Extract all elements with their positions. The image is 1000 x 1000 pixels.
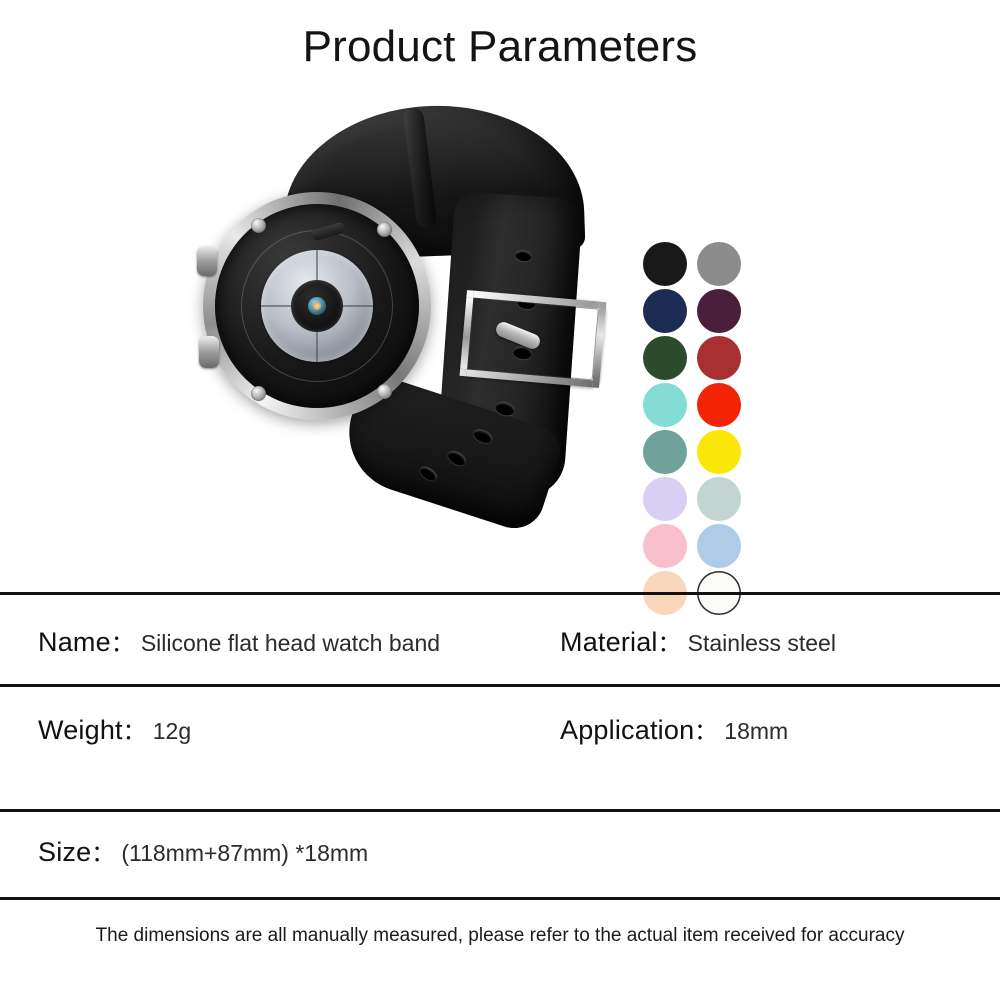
color-swatch-light-blue[interactable] (697, 524, 741, 568)
product-parameters-page: Product Parameters (0, 0, 1000, 1000)
spec-field-size: Size ： (118mm+87mm) *18mm (38, 834, 368, 868)
spec-colon: ： (123, 712, 146, 746)
color-swatch-grid (638, 240, 746, 616)
spec-divider-top (0, 592, 1000, 595)
spec-colon: ： (91, 834, 114, 868)
sensor-led-dot (313, 302, 321, 310)
color-swatch-pale-sage[interactable] (697, 477, 741, 521)
spec-value-material: Stainless steel (688, 630, 836, 657)
case-screw (377, 222, 392, 237)
color-swatch-dark-purple[interactable] (697, 289, 741, 333)
color-swatch-lavender[interactable] (643, 477, 687, 521)
spec-field-name: Name ： Silicone flat head watch band (38, 624, 440, 658)
spec-value-size: (118mm+87mm) *18mm (121, 840, 368, 867)
spec-value-application: 18mm (724, 718, 788, 745)
color-swatch-black[interactable] (643, 242, 687, 286)
spec-divider-third (0, 809, 1000, 812)
product-image-watch-band (195, 100, 625, 540)
color-swatch-gray[interactable] (697, 242, 741, 286)
spec-field-application: Application ： 18mm (560, 712, 788, 746)
spec-colon: ： (658, 624, 681, 658)
spec-colon: ： (694, 712, 717, 746)
watch-side-button-lower (199, 336, 219, 368)
spec-label-size: Size (38, 837, 91, 868)
spec-label-material: Material (560, 627, 658, 658)
color-swatch-navy-blue[interactable] (643, 289, 687, 333)
color-swatch-yellow[interactable] (697, 430, 741, 474)
color-swatch-pink[interactable] (643, 524, 687, 568)
color-swatch-teal-green[interactable] (643, 430, 687, 474)
spec-colon: ： (111, 624, 134, 658)
spec-divider-bottom (0, 897, 1000, 900)
color-swatch-turquoise[interactable] (643, 383, 687, 427)
page-title: Product Parameters (0, 22, 1000, 72)
spec-label-weight: Weight (38, 715, 123, 746)
color-swatch-dark-red[interactable] (697, 336, 741, 380)
color-swatch-dark-green[interactable] (643, 336, 687, 380)
case-screw (377, 384, 392, 399)
spec-field-material: Material ： Stainless steel (560, 624, 836, 658)
color-swatch-bright-red[interactable] (697, 383, 741, 427)
case-screw (251, 218, 266, 233)
spec-field-weight: Weight ： 12g (38, 712, 191, 746)
case-screw (251, 386, 266, 401)
spec-label-name: Name (38, 627, 111, 658)
measurement-disclaimer: The dimensions are all manually measured… (0, 925, 1000, 947)
hero-section (0, 95, 1000, 565)
spec-label-application: Application (560, 715, 694, 746)
spec-value-name: Silicone flat head watch band (141, 630, 440, 657)
spec-value-weight: 12g (153, 718, 191, 745)
spec-divider-second (0, 684, 1000, 687)
watch-side-button-upper (197, 246, 217, 276)
